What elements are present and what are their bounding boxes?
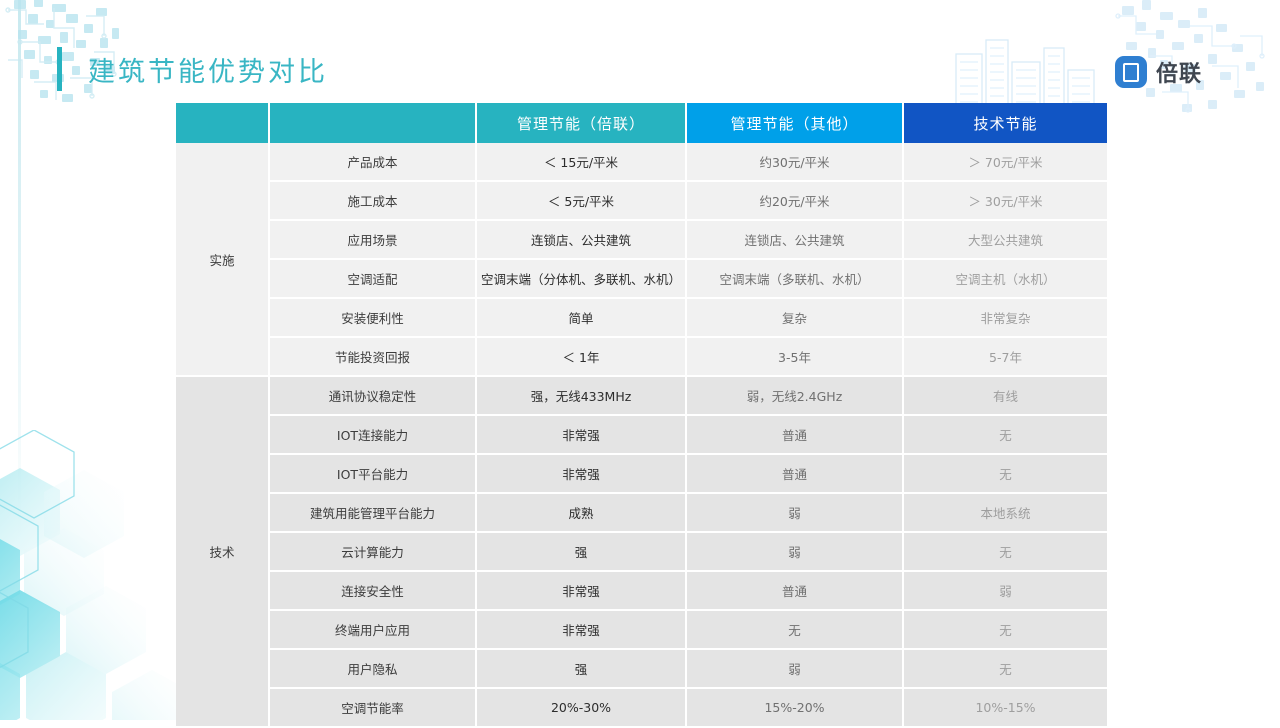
table-row: 空调适配空调末端（分体机、多联机、水机）空调末端（多联机、水机）空调主机（水机） bbox=[176, 259, 1108, 298]
cell-tech: 无 bbox=[903, 415, 1108, 454]
cell-others: 约30元/平米 bbox=[686, 143, 903, 181]
cell-tech: 弱 bbox=[903, 571, 1108, 610]
table-row: IOT连接能力非常强普通无 bbox=[176, 415, 1108, 454]
cell-others: 普通 bbox=[686, 415, 903, 454]
table-row: 空调节能率20%-30%15%-20%10%-15% bbox=[176, 688, 1108, 727]
row-group-label: 技术 bbox=[176, 376, 269, 727]
header-cell-metric bbox=[269, 103, 476, 143]
cell-beilian: 20%-30% bbox=[476, 688, 686, 727]
table-body: 实施产品成本＜ 15元/平米约30元/平米＞ 70元/平米施工成本＜ 5元/平米… bbox=[176, 143, 1108, 727]
row-metric-name: 连接安全性 bbox=[269, 571, 476, 610]
cell-beilian: 强 bbox=[476, 649, 686, 688]
cell-tech: 空调主机（水机） bbox=[903, 259, 1108, 298]
left-edge-accent bbox=[18, 0, 21, 720]
row-metric-name: 节能投资回报 bbox=[269, 337, 476, 376]
cell-others: 连锁店、公共建筑 bbox=[686, 220, 903, 259]
cell-tech: 大型公共建筑 bbox=[903, 220, 1108, 259]
header-cell-beilian: 管理节能（倍联） bbox=[476, 103, 686, 143]
brand-name: 倍联 bbox=[1156, 56, 1202, 88]
row-metric-name: IOT连接能力 bbox=[269, 415, 476, 454]
table-row: 实施产品成本＜ 15元/平米约30元/平米＞ 70元/平米 bbox=[176, 143, 1108, 181]
row-metric-name: 终端用户应用 bbox=[269, 610, 476, 649]
cell-beilian: 空调末端（分体机、多联机、水机） bbox=[476, 259, 686, 298]
cell-others: 3-5年 bbox=[686, 337, 903, 376]
row-metric-name: 应用场景 bbox=[269, 220, 476, 259]
table-row: 用户隐私强弱无 bbox=[176, 649, 1108, 688]
cell-tech: 10%-15% bbox=[903, 688, 1108, 727]
table-row: 施工成本＜ 5元/平米约20元/平米＞ 30元/平米 bbox=[176, 181, 1108, 220]
brand-logo: 倍联 bbox=[1115, 56, 1202, 88]
cell-others: 空调末端（多联机、水机） bbox=[686, 259, 903, 298]
cell-tech: 无 bbox=[903, 649, 1108, 688]
cell-beilian: 非常强 bbox=[476, 610, 686, 649]
cell-beilian: 连锁店、公共建筑 bbox=[476, 220, 686, 259]
cell-others: 约20元/平米 bbox=[686, 181, 903, 220]
page-title: 建筑节能优势对比 bbox=[88, 50, 328, 89]
row-metric-name: 通讯协议稳定性 bbox=[269, 376, 476, 415]
cell-beilian: 非常强 bbox=[476, 454, 686, 493]
cell-beilian: ＜ 15元/平米 bbox=[476, 143, 686, 181]
title-accent-bar bbox=[57, 47, 62, 91]
cell-others: 弱 bbox=[686, 493, 903, 532]
row-metric-name: 产品成本 bbox=[269, 143, 476, 181]
cell-others: 15%-20% bbox=[686, 688, 903, 727]
cell-others: 普通 bbox=[686, 571, 903, 610]
cell-others: 复杂 bbox=[686, 298, 903, 337]
table-row: 安装便利性简单复杂非常复杂 bbox=[176, 298, 1108, 337]
table-row: 连接安全性非常强普通弱 bbox=[176, 571, 1108, 610]
cell-tech: 有线 bbox=[903, 376, 1108, 415]
cell-beilian: 非常强 bbox=[476, 415, 686, 454]
row-metric-name: 建筑用能管理平台能力 bbox=[269, 493, 476, 532]
cell-others: 普通 bbox=[686, 454, 903, 493]
cell-tech: ＞ 30元/平米 bbox=[903, 181, 1108, 220]
table-header: 管理节能（倍联） 管理节能（其他） 技术节能 bbox=[176, 103, 1108, 143]
cell-beilian: 强，无线433MHz bbox=[476, 376, 686, 415]
cell-tech: 无 bbox=[903, 454, 1108, 493]
cell-beilian: ＜ 1年 bbox=[476, 337, 686, 376]
table-row: 节能投资回报＜ 1年3-5年5-7年 bbox=[176, 337, 1108, 376]
row-metric-name: 安装便利性 bbox=[269, 298, 476, 337]
cell-others: 弱 bbox=[686, 532, 903, 571]
cell-others: 无 bbox=[686, 610, 903, 649]
cell-others: 弱 bbox=[686, 649, 903, 688]
cell-tech: 本地系统 bbox=[903, 493, 1108, 532]
table-row: 技术通讯协议稳定性强，无线433MHz弱，无线2.4GHz有线 bbox=[176, 376, 1108, 415]
cell-tech: 非常复杂 bbox=[903, 298, 1108, 337]
cell-tech: 5-7年 bbox=[903, 337, 1108, 376]
table-row: 终端用户应用非常强无无 bbox=[176, 610, 1108, 649]
cell-tech: 无 bbox=[903, 610, 1108, 649]
header-cell-group bbox=[176, 103, 269, 143]
cell-beilian: 成熟 bbox=[476, 493, 686, 532]
row-metric-name: 云计算能力 bbox=[269, 532, 476, 571]
header-cell-tech: 技术节能 bbox=[903, 103, 1108, 143]
table-header-row: 管理节能（倍联） 管理节能（其他） 技术节能 bbox=[176, 103, 1108, 143]
table-row: IOT平台能力非常强普通无 bbox=[176, 454, 1108, 493]
table-row: 应用场景连锁店、公共建筑连锁店、公共建筑大型公共建筑 bbox=[176, 220, 1108, 259]
table-row: 云计算能力强弱无 bbox=[176, 532, 1108, 571]
cell-beilian: 强 bbox=[476, 532, 686, 571]
row-metric-name: 空调适配 bbox=[269, 259, 476, 298]
cell-tech: ＞ 70元/平米 bbox=[903, 143, 1108, 181]
header-cell-others: 管理节能（其他） bbox=[686, 103, 903, 143]
row-metric-name: 施工成本 bbox=[269, 181, 476, 220]
cell-beilian: 非常强 bbox=[476, 571, 686, 610]
rounded-square-logo-icon bbox=[1115, 56, 1147, 88]
cell-beilian: ＜ 5元/平米 bbox=[476, 181, 686, 220]
row-metric-name: 用户隐私 bbox=[269, 649, 476, 688]
row-metric-name: IOT平台能力 bbox=[269, 454, 476, 493]
cell-others: 弱，无线2.4GHz bbox=[686, 376, 903, 415]
comparison-table: 管理节能（倍联） 管理节能（其他） 技术节能 实施产品成本＜ 15元/平米约30… bbox=[176, 103, 1109, 728]
table-row: 建筑用能管理平台能力成熟弱本地系统 bbox=[176, 493, 1108, 532]
row-metric-name: 空调节能率 bbox=[269, 688, 476, 727]
cell-tech: 无 bbox=[903, 532, 1108, 571]
comparison-table-container: 管理节能（倍联） 管理节能（其他） 技术节能 实施产品成本＜ 15元/平米约30… bbox=[176, 103, 1108, 728]
cell-beilian: 简单 bbox=[476, 298, 686, 337]
row-group-label: 实施 bbox=[176, 143, 269, 376]
